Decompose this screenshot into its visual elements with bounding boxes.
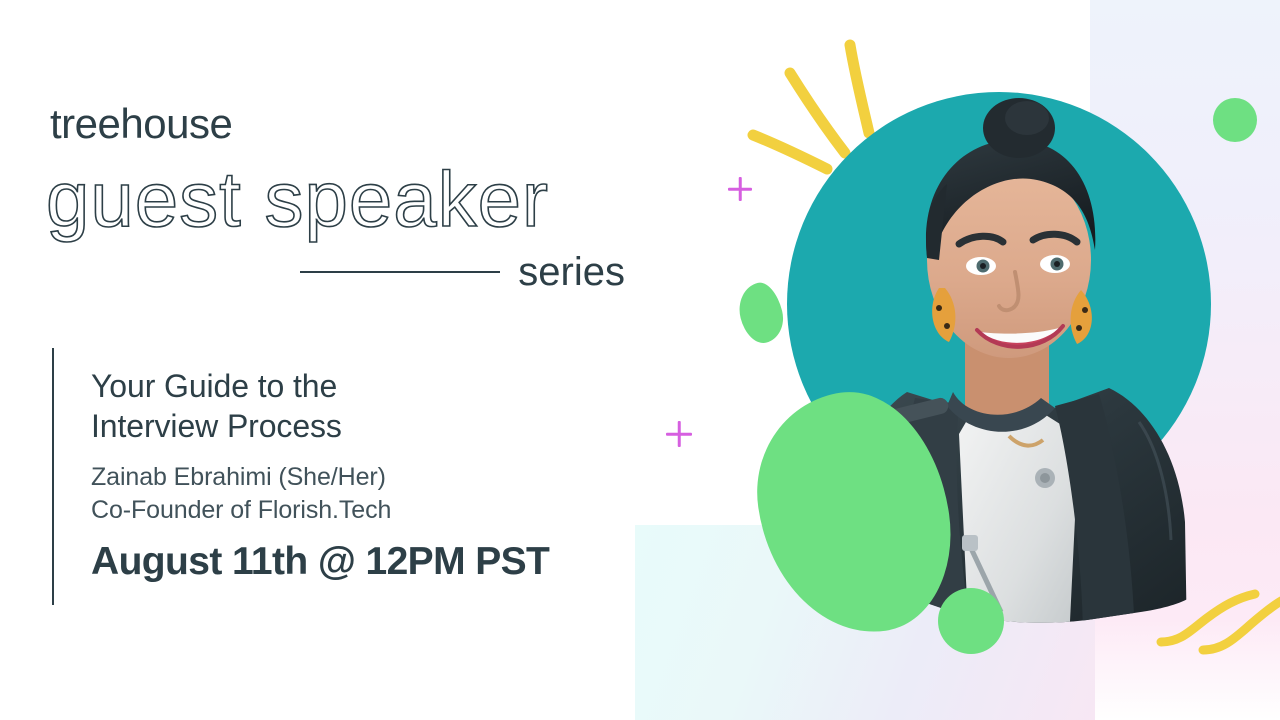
series-word: series [518, 252, 625, 292]
talk-details: Your Guide to the Interview Process Zain… [91, 366, 631, 581]
speaker-name: Zainab Ebrahimi (She/Her) [91, 461, 631, 494]
promo-slide: treehouse guest speaker series Your Guid… [0, 0, 1280, 720]
headline-outline-text: guest speaker [46, 160, 549, 238]
series-row: series [300, 252, 625, 292]
talk-title: Your Guide to the Interview Process [91, 366, 631, 447]
speaker-role: Co-Founder of Florish.Tech [91, 494, 631, 527]
brand-wordmark: treehouse [50, 103, 232, 145]
series-divider-rule [300, 271, 500, 273]
portrait-illustration [787, 92, 1211, 642]
green-blob-small-shape [733, 279, 788, 347]
detail-vertical-rule [52, 348, 54, 605]
plus-mark-icon [728, 177, 752, 201]
plus-mark-icon [666, 421, 692, 447]
speaker-portrait-photo [787, 92, 1211, 642]
green-dot-top-right-shape [1213, 98, 1257, 142]
event-datetime: August 11th @ 12PM PST [91, 542, 631, 581]
